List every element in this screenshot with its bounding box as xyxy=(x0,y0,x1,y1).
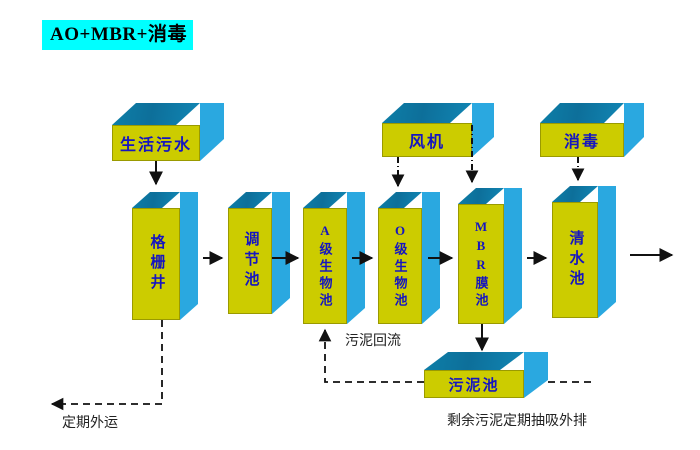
label-waste-sludge: 剩余污泥定期抽吸外排 xyxy=(447,410,587,430)
label-periodic-haul: 定期外运 xyxy=(62,412,118,432)
connector-layer xyxy=(0,0,700,450)
process-flow-diagram: AO+MBR+消毒 生活污水 风机 消毒 格栅井 调节池 xyxy=(0,0,700,450)
label-sludge-return: 污泥回流 xyxy=(345,330,401,350)
line-screenings-haul xyxy=(52,320,162,404)
